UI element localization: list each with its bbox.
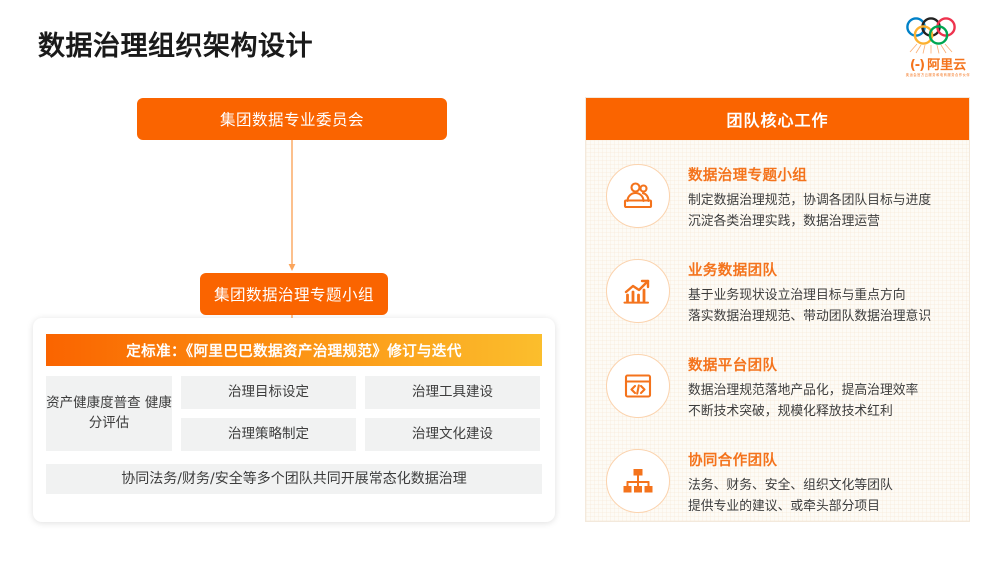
page-title: 数据治理组织架构设计 bbox=[38, 24, 313, 63]
tile-governance-tools[interactable]: 治理工具建设 bbox=[365, 376, 540, 409]
tile-governance-goal[interactable]: 治理目标设定 bbox=[181, 376, 356, 409]
panel-item-desc: 法务、财务、安全、组织文化等团队 提供专业的建议、或牵头部分项目 bbox=[688, 476, 893, 517]
panel-item-desc: 制定数据治理规范，协调各团队目标与进度 沉淀各类治理实践，数据治理运营 bbox=[688, 191, 931, 232]
team-core-work-panel: 团队核心工作 数据治理专题小组 制定数据治理规范，协调各团队目标与进度 沉淀各类… bbox=[585, 97, 970, 522]
tile-governance-strategy[interactable]: 治理策略制定 bbox=[181, 418, 356, 451]
alibaba-cloud-mark-icon: (-) bbox=[910, 59, 924, 72]
panel-item-title: 业务数据团队 bbox=[688, 259, 931, 280]
brand-name: 阿里云 bbox=[927, 59, 966, 72]
brand-tagline: 奥运会官方云服务和电商服务合作伙伴 bbox=[892, 74, 983, 77]
panel-item-title: 数据治理专题小组 bbox=[688, 164, 931, 185]
panel-item-title: 数据平台团队 bbox=[688, 354, 918, 375]
panel-item-desc: 基于业务现状设立治理目标与重点方向 落实数据治理规范、带动团队数据治理意识 bbox=[688, 286, 931, 327]
tile-cross-team-governance[interactable]: 协同法务/财务/安全等多个团队共同开展常态化数据治理 bbox=[46, 464, 542, 494]
org-chart: 集团数据专业委员会 集团数据治理专题小组 业务治理团队 数据平台团队 协同合作团… bbox=[0, 92, 570, 307]
standard-card: 定标准：《阿里巴巴数据资产治理规范》修订与迭代 资产健康度普查 健康分评估 治理… bbox=[33, 318, 555, 522]
tile-asset-health[interactable]: 资产健康度普查 健康分评估 bbox=[46, 376, 172, 451]
team-podium-icon bbox=[606, 164, 670, 228]
panel-item-data-platform-team[interactable]: 数据平台团队 数据治理规范落地产品化，提高治理效率 不断技术突破，规模化释放技术… bbox=[586, 340, 969, 435]
org-node-level2[interactable]: 集团数据治理专题小组 bbox=[200, 273, 388, 315]
growth-bar-chart-icon bbox=[606, 259, 670, 323]
brand-logo: (-) 阿里云 奥运会官方云服务和电商服务合作伙伴 bbox=[890, 12, 986, 80]
panel-item-business-data-team[interactable]: 业务数据团队 基于业务现状设立治理目标与重点方向 落实数据治理规范、带动团队数据… bbox=[586, 245, 969, 340]
org-node-level1[interactable]: 集团数据专业委员会 bbox=[137, 98, 447, 140]
panel-item-governance-group[interactable]: 数据治理专题小组 制定数据治理规范，协调各团队目标与进度 沉淀各类治理实践，数据… bbox=[586, 150, 969, 245]
olympic-rings-icon bbox=[904, 14, 972, 54]
code-window-icon bbox=[606, 354, 670, 418]
panel-item-collaboration-team[interactable]: 协同合作团队 法务、财务、安全、组织文化等团队 提供专业的建议、或牵头部分项目 bbox=[586, 435, 969, 522]
org-hierarchy-icon bbox=[606, 449, 670, 513]
panel-item-title: 协同合作团队 bbox=[688, 449, 893, 470]
panel-item-desc: 数据治理规范落地产品化，提高治理效率 不断技术突破，规模化释放技术红利 bbox=[688, 381, 918, 422]
standard-banner: 定标准：《阿里巴巴数据资产治理规范》修订与迭代 bbox=[46, 334, 542, 366]
tile-governance-culture[interactable]: 治理文化建设 bbox=[365, 418, 540, 451]
panel-title: 团队核心工作 bbox=[586, 98, 969, 140]
